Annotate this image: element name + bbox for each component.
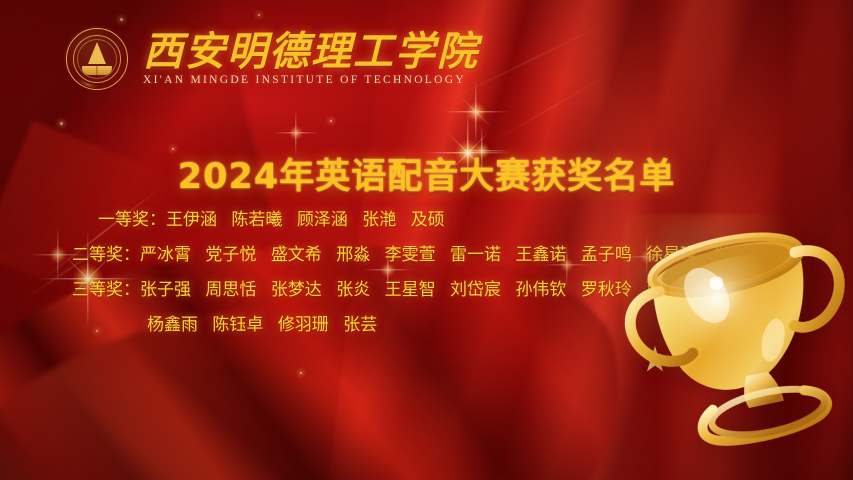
university-crest-icon — [64, 26, 130, 92]
winner-name: 张滟 — [362, 210, 396, 230]
winner-name: 周思恬 — [205, 280, 256, 300]
winner-name: 张梦达 — [271, 280, 322, 300]
winner-name: 张芸 — [343, 315, 377, 335]
brand-header: 西安明德理工学院 XI'AN MINGDE INSTITUTE OF TECHN… — [64, 26, 479, 92]
brand-name-cn: 西安明德理工学院 — [143, 32, 479, 72]
page-title: 2024年英语配音大赛获奖名单 — [0, 148, 853, 199]
winner-name: 张炎 — [336, 280, 370, 300]
winner-name: 党子悦 — [205, 245, 256, 265]
winner-name: 孙伟钦 — [515, 280, 566, 300]
award-announcement-poster: 西安明德理工学院 XI'AN MINGDE INSTITUTE OF TECHN… — [0, 0, 853, 480]
award-label: 一等奖： — [98, 205, 166, 230]
winner-name: 陈钰卓 — [212, 315, 263, 335]
award-label: 二等奖： — [72, 240, 140, 265]
winner-name: 李雯萱 — [385, 245, 436, 265]
winner-name: 王星智 — [385, 280, 436, 300]
winner-name: 杨鑫雨 — [147, 315, 198, 335]
winner-name: 及硕 — [411, 210, 445, 230]
winner-name: 雷一诺 — [450, 245, 501, 265]
brand-name-en: XI'AN MINGDE INSTITUTE OF TECHNOLOGY — [143, 74, 479, 86]
winner-name: 邢淼 — [336, 245, 370, 265]
winner-name: 顾泽涵 — [297, 210, 348, 230]
winner-name: 陈若曦 — [231, 210, 282, 230]
winner-name: 修羽珊 — [278, 315, 329, 335]
winner-name: 王鑫诺 — [515, 245, 566, 265]
winner-name: 刘岱宸 — [450, 280, 501, 300]
award-label: 三等奖： — [72, 275, 140, 300]
winner-name: 王伊涵 — [166, 210, 217, 230]
award-row-first-prize: 一等奖： 王伊涵 陈若曦 顾泽涵 张滟 及硕 — [0, 205, 853, 230]
award-names: 杨鑫雨 陈钰卓 修羽珊 张芸 — [147, 310, 377, 335]
award-names: 王伊涵 陈若曦 顾泽涵 张滟 及硕 — [166, 205, 445, 230]
winner-name: 严冰霄 — [140, 245, 191, 265]
winner-name: 盛文希 — [271, 245, 322, 265]
brand-text-block: 西安明德理工学院 XI'AN MINGDE INSTITUTE OF TECHN… — [143, 32, 479, 86]
winner-name: 张子强 — [140, 280, 191, 300]
